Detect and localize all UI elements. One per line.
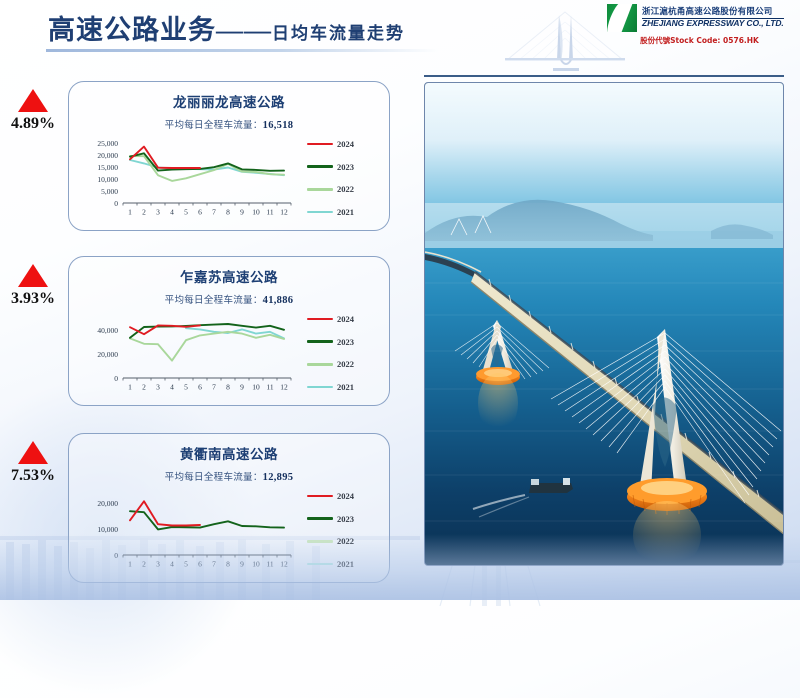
svg-text:3: 3	[156, 208, 160, 217]
kpi-2: 3.93%	[4, 264, 62, 308]
road-subtitle-label-2: 平均每日全程车流量：	[165, 296, 263, 306]
legend-swatch-2022	[307, 188, 333, 191]
svg-text:20,000: 20,000	[97, 151, 118, 160]
chart-area-3: 010,00020,000123456789101112 2024 2023	[69, 489, 389, 575]
photo-top-rule	[424, 75, 784, 77]
legend-item-2022[interactable]: 2022	[307, 536, 383, 546]
road-card-3: 黄衢南高速公路 平均每日全程车流量：12,895 010,00020,00012…	[68, 433, 390, 583]
svg-text:20,000: 20,000	[97, 499, 118, 508]
stock-code-label: 股份代號Stock Code: 0576.HK	[607, 35, 792, 46]
company-logo: 浙江滬杭甬高速公路股份有限公司 ZHEJIANG EXPRESSWAY CO.,…	[607, 4, 792, 46]
kpi-1: 4.89%	[4, 89, 62, 133]
legend-label-2022: 2022	[337, 359, 354, 369]
page-title-sub: 日均车流量走势	[272, 24, 405, 43]
road-card-1: 龙丽丽龙高速公路 平均每日全程车流量：16,518 05,00010,00015…	[68, 81, 390, 231]
bridge-photo	[424, 82, 784, 566]
chart-panel-1: 4.89% 龙丽丽龙高速公路 平均每日全程车流量：16,518 05,00010…	[0, 81, 400, 243]
up-triangle-icon	[18, 264, 48, 287]
road-subtitle-2: 平均每日全程车流量：41,886	[69, 292, 389, 306]
svg-text:40,000: 40,000	[97, 326, 118, 335]
chart-panel-3: 7.53% 黄衢南高速公路 平均每日全程车流量：12,895 010,00020…	[0, 433, 400, 595]
road-card-2: 乍嘉苏高速公路 平均每日全程车流量：41,886 020,00040,00012…	[68, 256, 390, 406]
legend-item-2022[interactable]: 2022	[307, 359, 383, 369]
title-underline	[46, 49, 438, 52]
line-chart-1: 05,00010,00015,00020,00025,0001234567891…	[75, 139, 297, 221]
slide-header: 高速公路业务——日均车流量走势 浙江滬杭甬高速公路股份有限公司 ZHEJIANG…	[0, 0, 800, 78]
svg-text:2: 2	[142, 383, 146, 392]
svg-text:4: 4	[170, 208, 174, 217]
svg-text:7: 7	[212, 208, 216, 217]
road-subtitle-value-3: 12,895	[263, 472, 294, 483]
svg-text:5: 5	[184, 560, 188, 569]
svg-text:15,000: 15,000	[97, 163, 118, 172]
svg-text:5: 5	[184, 208, 188, 217]
svg-text:6: 6	[198, 208, 202, 217]
svg-text:7: 7	[212, 560, 216, 569]
legend-item-2023[interactable]: 2023	[307, 337, 383, 347]
kpi-3: 7.53%	[4, 441, 62, 485]
line-chart-3: 010,00020,000123456789101112	[75, 491, 297, 573]
svg-text:12: 12	[280, 383, 288, 392]
svg-text:9: 9	[240, 208, 244, 217]
legend-swatch-2021	[307, 386, 333, 389]
svg-text:3: 3	[156, 383, 160, 392]
legend-label-2023: 2023	[337, 337, 354, 347]
legend-swatch-2024	[307, 495, 333, 498]
legend-item-2021[interactable]: 2021	[307, 207, 383, 217]
svg-text:9: 9	[240, 560, 244, 569]
chart-area-2: 020,00040,000123456789101112 2024 2023	[69, 312, 389, 398]
legend-label-2024: 2024	[337, 139, 354, 149]
legend-label-2023: 2023	[337, 514, 354, 524]
legend-item-2024[interactable]: 2024	[307, 314, 383, 324]
legend-swatch-2022	[307, 363, 333, 366]
legend-label-2022: 2022	[337, 184, 354, 194]
legend-label-2022: 2022	[337, 536, 354, 546]
legend-swatch-2021	[307, 211, 333, 214]
chart-panel-2: 3.93% 乍嘉苏高速公路 平均每日全程车流量：41,886 020,00040…	[0, 256, 400, 418]
page-title-main: 高速公路业务	[48, 15, 216, 45]
road-subtitle-value-2: 41,886	[263, 295, 294, 306]
svg-text:1: 1	[128, 560, 132, 569]
legend-item-2022[interactable]: 2022	[307, 184, 383, 194]
road-title-2: 乍嘉苏高速公路	[69, 266, 389, 286]
page-title: 高速公路业务——日均车流量走势	[48, 8, 405, 47]
svg-text:1: 1	[128, 383, 132, 392]
legend-item-2023[interactable]: 2023	[307, 162, 383, 172]
kpi-percent-1: 4.89%	[4, 115, 62, 133]
charts-column: 4.89% 龙丽丽龙高速公路 平均每日全程车流量：16,518 05,00010…	[0, 78, 412, 600]
plot-3: 010,00020,000123456789101112	[75, 491, 297, 573]
svg-text:9: 9	[240, 383, 244, 392]
legend-swatch-2023	[307, 517, 333, 520]
svg-text:10: 10	[252, 383, 260, 392]
svg-text:1: 1	[128, 208, 132, 217]
svg-text:5,000: 5,000	[101, 187, 118, 196]
svg-text:4: 4	[170, 560, 174, 569]
svg-text:3: 3	[156, 560, 160, 569]
legend-item-2021[interactable]: 2021	[307, 382, 383, 392]
road-subtitle-3: 平均每日全程车流量：12,895	[69, 469, 389, 483]
road-subtitle-label-1: 平均每日全程车流量：	[165, 121, 263, 131]
legend-swatch-2024	[307, 143, 333, 146]
legend-item-2023[interactable]: 2023	[307, 514, 383, 524]
svg-text:6: 6	[198, 560, 202, 569]
legend-label-2024: 2024	[337, 314, 354, 324]
logo-name-cn: 浙江滬杭甬高速公路股份有限公司	[642, 8, 784, 17]
road-title-1: 龙丽丽龙高速公路	[69, 91, 389, 111]
svg-text:20,000: 20,000	[97, 350, 118, 359]
plot-1: 05,00010,00015,00020,00025,0001234567891…	[75, 139, 297, 221]
road-subtitle-value-1: 16,518	[263, 120, 294, 131]
up-triangle-icon	[18, 89, 48, 112]
legend-swatch-2022	[307, 540, 333, 543]
svg-text:10: 10	[252, 560, 260, 569]
legend-1: 2024 2023 2022 2021	[307, 139, 383, 217]
chart-area-1: 05,00010,00015,00020,00025,0001234567891…	[69, 137, 389, 223]
svg-text:10,000: 10,000	[97, 525, 118, 534]
legend-item-2024[interactable]: 2024	[307, 139, 383, 149]
svg-text:0: 0	[114, 551, 118, 560]
svg-text:8: 8	[226, 560, 230, 569]
legend-3: 2024 2023 2022 2021	[307, 491, 383, 569]
legend-item-2024[interactable]: 2024	[307, 491, 383, 501]
svg-text:8: 8	[226, 208, 230, 217]
kpi-percent-3: 7.53%	[4, 467, 62, 485]
legend-swatch-2023	[307, 165, 333, 168]
legend-label-2023: 2023	[337, 162, 354, 172]
legend-label-2021: 2021	[337, 382, 354, 392]
legend-2: 2024 2023 2022 2021	[307, 314, 383, 392]
legend-label-2024: 2024	[337, 491, 354, 501]
road-subtitle-1: 平均每日全程车流量：16,518	[69, 117, 389, 131]
legend-label-2021: 2021	[337, 207, 354, 217]
kpi-percent-2: 3.93%	[4, 290, 62, 308]
svg-text:12: 12	[280, 560, 288, 569]
legend-swatch-2023	[307, 340, 333, 343]
logo-name-en: ZHEJIANG EXPRESSWAY CO., LTD.	[642, 19, 784, 28]
svg-text:11: 11	[266, 383, 273, 392]
legend-item-2021[interactable]: 2021	[307, 559, 383, 569]
svg-text:12: 12	[280, 208, 288, 217]
svg-text:2: 2	[142, 208, 146, 217]
svg-text:25,000: 25,000	[97, 139, 118, 148]
legend-label-2021: 2021	[337, 559, 354, 569]
svg-text:4: 4	[170, 383, 174, 392]
svg-text:0: 0	[114, 199, 118, 208]
logo-mark-icon	[607, 4, 637, 32]
svg-text:5: 5	[184, 383, 188, 392]
up-triangle-icon	[18, 441, 48, 464]
svg-text:0: 0	[114, 374, 118, 383]
svg-text:11: 11	[266, 208, 273, 217]
legend-swatch-2024	[307, 318, 333, 321]
legend-swatch-2021	[307, 563, 333, 566]
svg-text:7: 7	[212, 383, 216, 392]
slide-body: 4.89% 龙丽丽龙高速公路 平均每日全程车流量：16,518 05,00010…	[0, 78, 800, 600]
svg-text:2: 2	[142, 560, 146, 569]
page-title-dash: ——	[216, 15, 272, 45]
road-subtitle-label-3: 平均每日全程车流量：	[165, 473, 263, 483]
svg-text:11: 11	[266, 560, 273, 569]
svg-text:10: 10	[252, 208, 260, 217]
svg-text:6: 6	[198, 383, 202, 392]
plot-2: 020,00040,000123456789101112	[75, 314, 297, 396]
svg-text:10,000: 10,000	[97, 175, 118, 184]
svg-text:8: 8	[226, 383, 230, 392]
road-title-3: 黄衢南高速公路	[69, 443, 389, 463]
line-chart-2: 020,00040,000123456789101112	[75, 314, 297, 396]
